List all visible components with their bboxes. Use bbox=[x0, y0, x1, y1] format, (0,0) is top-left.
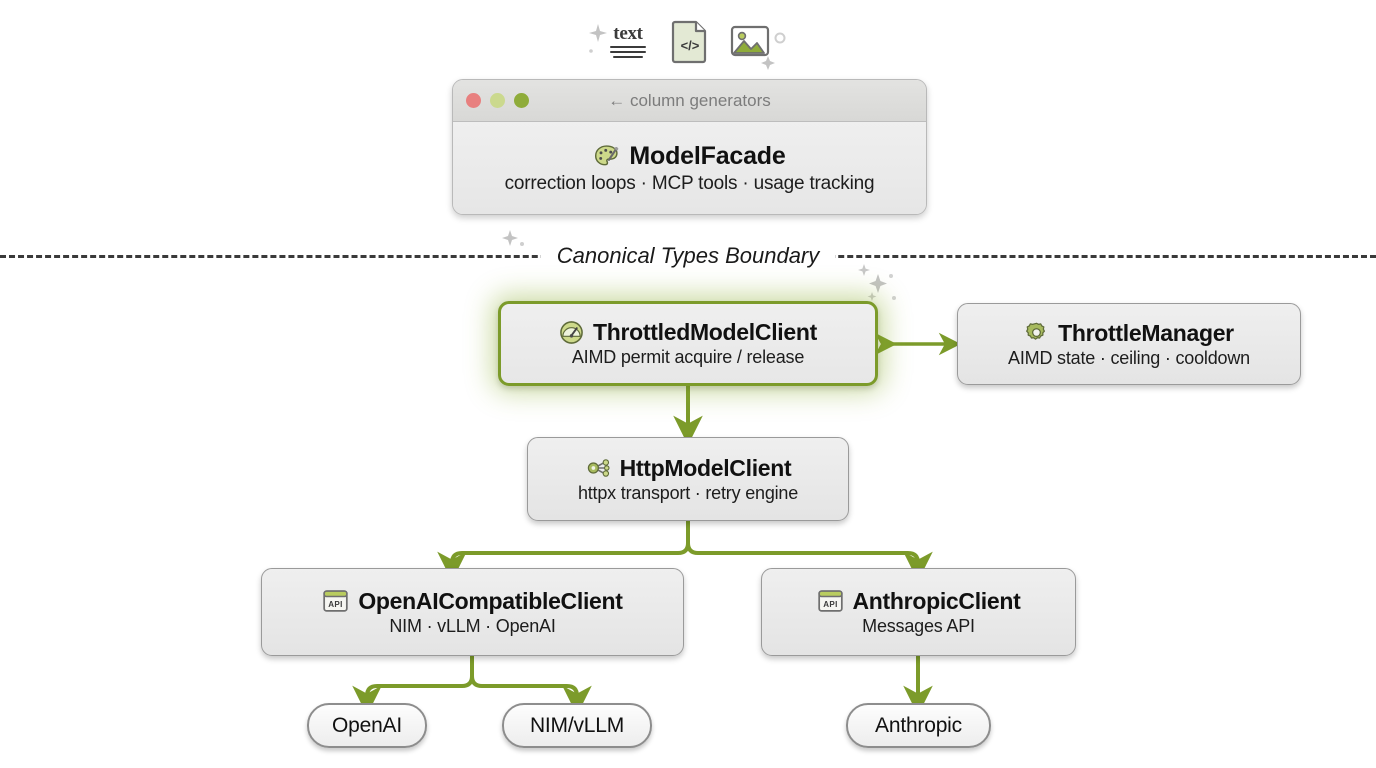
network-icon bbox=[585, 456, 611, 480]
svg-text:API: API bbox=[329, 600, 344, 609]
node-title: AnthropicClient bbox=[853, 588, 1021, 615]
node-title-row: ThrottleManager bbox=[1024, 320, 1234, 347]
node-subtitle: AIMD permit acquire / release bbox=[572, 347, 804, 368]
gear-icon bbox=[1024, 321, 1049, 346]
edge-openai-compatible-to-openai bbox=[367, 656, 472, 700]
window-body: ModelFacade correction loops · MCP tools… bbox=[453, 122, 926, 214]
node-throttled-model-client[interactable]: ThrottledModelClient AIMD permit acquire… bbox=[498, 301, 878, 386]
window-title: ← column generators bbox=[453, 91, 926, 111]
text-icon-rule-2 bbox=[610, 51, 646, 53]
gauge-icon bbox=[559, 320, 584, 345]
node-subtitle: httpx transport · retry engine bbox=[578, 483, 798, 504]
leaf-label: Anthropic bbox=[875, 714, 962, 738]
image-icon bbox=[728, 18, 772, 64]
node-subtitle: NIM · vLLM · OpenAI bbox=[389, 616, 555, 637]
leaf-label: NIM/vLLM bbox=[530, 714, 624, 738]
model-facade-title: ModelFacade bbox=[629, 142, 785, 171]
edge-http-to-anthropic bbox=[688, 521, 918, 566]
node-throttle-manager[interactable]: ThrottleManager AIMD state · ceiling · c… bbox=[957, 303, 1301, 385]
node-title: HttpModelClient bbox=[620, 455, 792, 482]
model-facade-subtitle: correction loops · MCP tools · usage tra… bbox=[505, 173, 875, 195]
text-icon-label: text bbox=[613, 24, 642, 43]
edge-openai-compatible-to-nim-vllm bbox=[472, 656, 577, 700]
leaf-nim-vllm[interactable]: NIM/vLLM bbox=[502, 703, 652, 748]
leaf-openai[interactable]: OpenAI bbox=[307, 703, 427, 748]
model-facade-window[interactable]: ← column generators ModelFacade bbox=[452, 79, 927, 215]
node-title: ThrottledModelClient bbox=[593, 319, 817, 346]
api-icon: API bbox=[817, 589, 844, 613]
svg-text:</>: </> bbox=[681, 38, 700, 53]
node-anthropic-client[interactable]: API AnthropicClient Messages API bbox=[761, 568, 1076, 656]
node-title-row: ThrottledModelClient bbox=[559, 319, 817, 346]
node-title-row: API OpenAICompatibleClient bbox=[322, 588, 622, 615]
text-icon-rule-1 bbox=[610, 46, 646, 48]
node-title: OpenAICompatibleClient bbox=[358, 588, 622, 615]
leaf-label: OpenAI bbox=[332, 714, 402, 738]
palette-icon bbox=[593, 143, 620, 170]
node-title-row: API AnthropicClient bbox=[817, 588, 1021, 615]
text-icon: text bbox=[604, 18, 652, 64]
node-subtitle: Messages API bbox=[862, 616, 975, 637]
node-subtitle: AIMD state · ceiling · cooldown bbox=[1008, 348, 1250, 369]
api-icon: API bbox=[322, 589, 349, 613]
diagram-canvas: text </> bbox=[0, 0, 1376, 768]
text-icon-rule-3 bbox=[613, 56, 643, 58]
top-icon-strip: text </> bbox=[0, 8, 1376, 74]
model-facade-title-row: ModelFacade bbox=[593, 142, 785, 171]
node-title-row: HttpModelClient bbox=[585, 455, 792, 482]
code-file-icon: </> bbox=[668, 18, 712, 64]
node-title: ThrottleManager bbox=[1058, 320, 1234, 347]
leaf-anthropic[interactable]: Anthropic bbox=[846, 703, 991, 748]
window-titlebar: ← column generators bbox=[453, 80, 926, 122]
node-http-model-client[interactable]: HttpModelClient httpx transport · retry … bbox=[527, 437, 849, 521]
svg-text:API: API bbox=[823, 600, 838, 609]
canonical-types-boundary-label: Canonical Types Boundary bbox=[0, 243, 1376, 269]
node-openai-compatible-client[interactable]: API OpenAICompatibleClient NIM · vLLM · … bbox=[261, 568, 684, 656]
edge-http-to-openai-compatible bbox=[452, 521, 688, 566]
